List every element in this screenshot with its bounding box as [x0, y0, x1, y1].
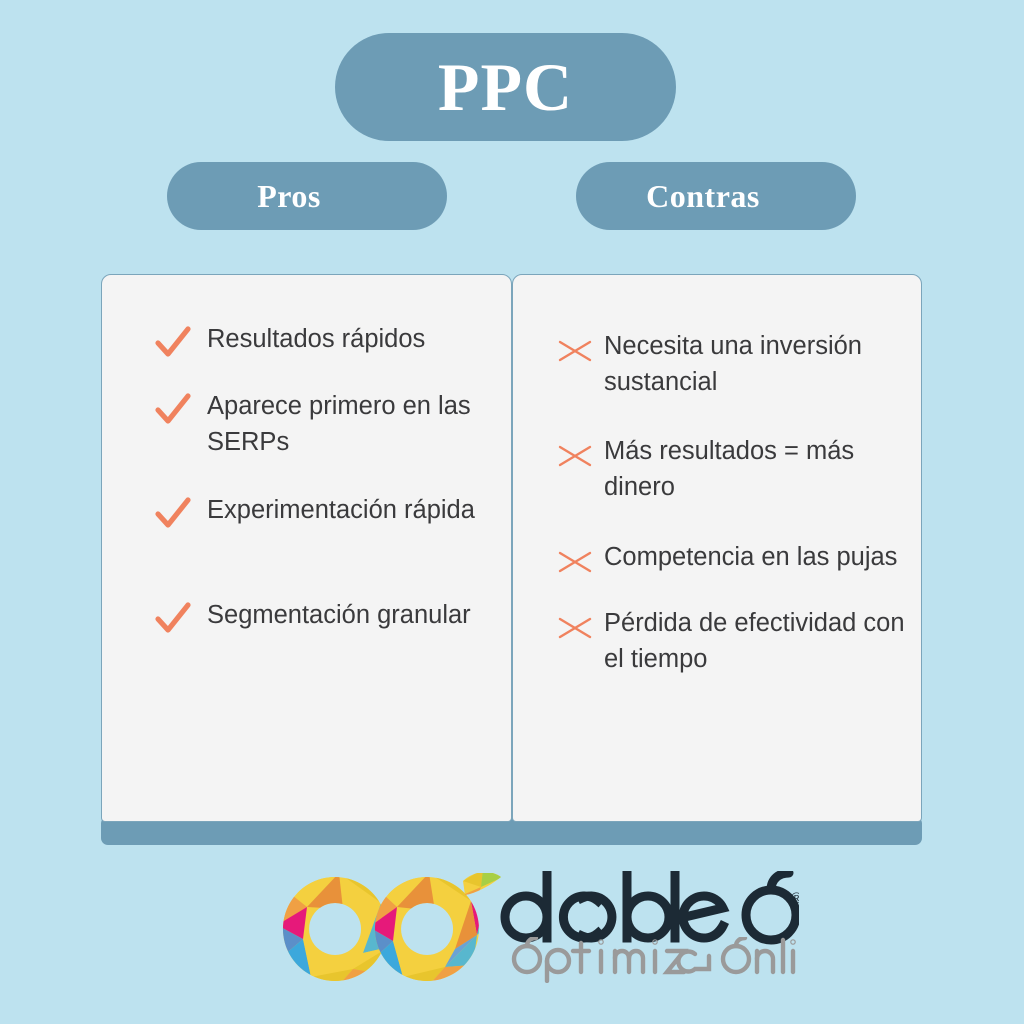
cross-icon [556, 439, 594, 473]
column-header-contras: Contras [576, 162, 856, 230]
title-pill: PPC [335, 33, 676, 141]
list-item: Pérdida de efectividad con el tiempo [556, 605, 916, 677]
check-icon [155, 601, 193, 635]
list-item-text: Más resultados = más dinero [604, 433, 916, 505]
list-item: Más resultados = más dinero [556, 433, 916, 505]
list-item-text: Competencia en las pujas [604, 539, 897, 575]
list-item-text: Segmentación granular [207, 597, 471, 633]
logo-tagline [509, 937, 799, 983]
check-icon [155, 496, 193, 530]
cross-icon [556, 611, 594, 645]
column-header-contras-label: Contras [646, 180, 760, 212]
cross-icon [556, 334, 594, 368]
list-item-text: Pérdida de efectividad con el tiempo [604, 605, 916, 677]
column-header-pros-label: Pros [257, 180, 321, 212]
list-item: Competencia en las pujas [556, 539, 916, 579]
registered-symbol: ® [791, 890, 799, 907]
list-item-text: Aparece primero en las SERPs [207, 388, 495, 460]
cross-icon [556, 545, 594, 579]
logo-wordmark: ® [499, 871, 799, 946]
list-item: Necesita una inversión sustancial [556, 328, 916, 400]
list-item-text: Experimentación rápida [207, 492, 475, 528]
panel-base-bar [101, 818, 922, 845]
check-icon [155, 392, 193, 426]
contras-panel: Necesita una inversión sustancial Más re… [512, 274, 922, 822]
brand-logo: ® [277, 873, 797, 993]
list-item: Resultados rápidos [155, 321, 495, 359]
pros-panel: Resultados rápidos Aparece primero en la… [101, 274, 512, 822]
page-title: PPC [438, 53, 573, 121]
list-item: Aparece primero en las SERPs [155, 388, 495, 460]
column-header-pros: Pros [167, 162, 447, 230]
list-item: Experimentación rápida [155, 492, 495, 530]
list-item-text: Necesita una inversión sustancial [604, 328, 916, 400]
doubleo-mark-icon [277, 873, 509, 985]
list-item: Segmentación granular [155, 597, 495, 635]
list-item-text: Resultados rápidos [207, 321, 425, 357]
check-icon [155, 325, 193, 359]
